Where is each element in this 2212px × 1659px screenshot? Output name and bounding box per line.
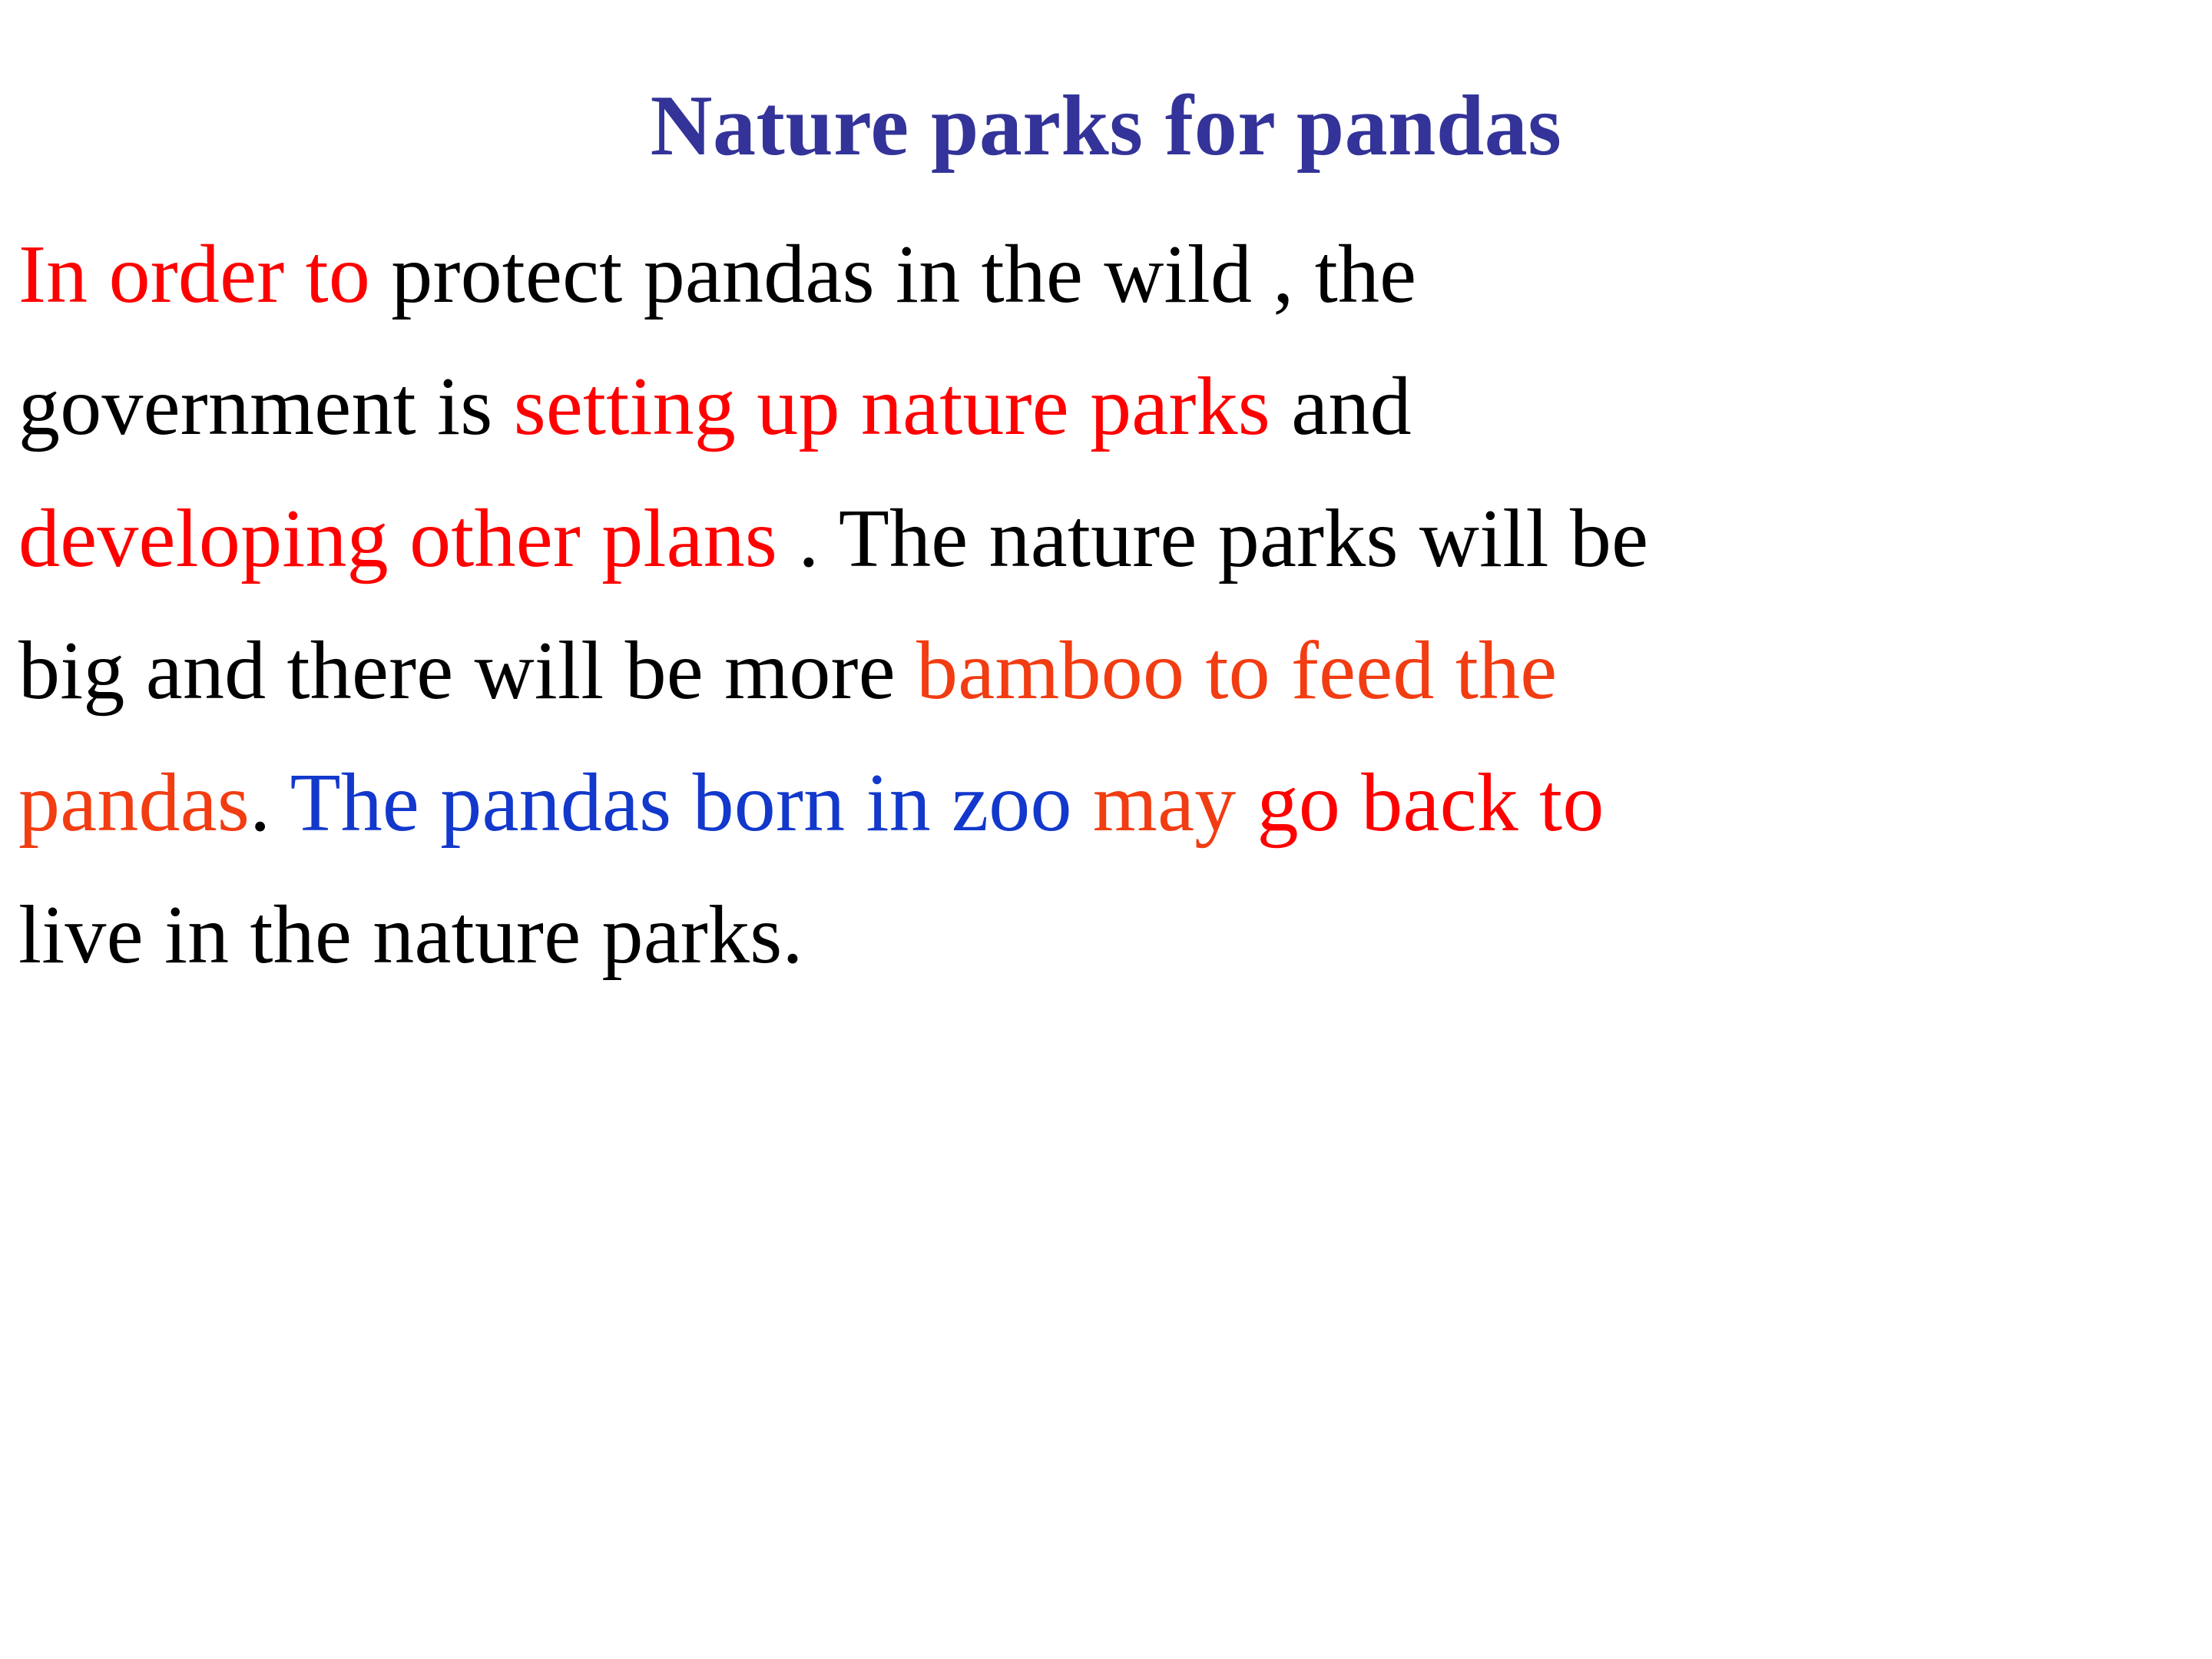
text-run: pandas [18,757,250,849]
slide-canvas: Nature parks for pandas In order to prot… [0,0,2212,1659]
text-run: . [250,757,290,849]
text-run: government is [18,361,514,452]
paragraph-line: government is setting up nature parks an… [18,341,2200,473]
text-run: developing other plans [18,493,777,584]
text-run: setting up nature parks [514,361,1270,452]
paragraph-line: developing other plans . The nature park… [18,473,2200,605]
text-run: go back to [1257,757,1604,849]
text-run: may [1093,757,1237,849]
text-run [1236,757,1257,849]
body-paragraph: In order to protect pandas in the wild ,… [18,209,2200,1002]
paragraph-line: live in the nature parks. [18,869,2200,1002]
text-run: and [1270,361,1412,452]
page-title: Nature parks for pandas [0,80,2212,173]
text-run: . The nature parks will be [777,493,1648,584]
paragraph-line: In order to protect pandas in the wild ,… [18,209,2200,341]
text-run: bamboo to feed the [916,625,1557,717]
text-run: In order to [18,229,370,320]
text-run: The pandas born in zoo [290,757,1093,849]
text-run: big and there will be more [18,625,916,717]
text-run: protect pandas in the wild , the [370,229,1416,320]
paragraph-line: pandas. The pandas born in zoo may go ba… [18,737,2200,869]
text-run: live in the nature parks. [18,889,803,981]
paragraph-line: big and there will be more bamboo to fee… [18,605,2200,737]
